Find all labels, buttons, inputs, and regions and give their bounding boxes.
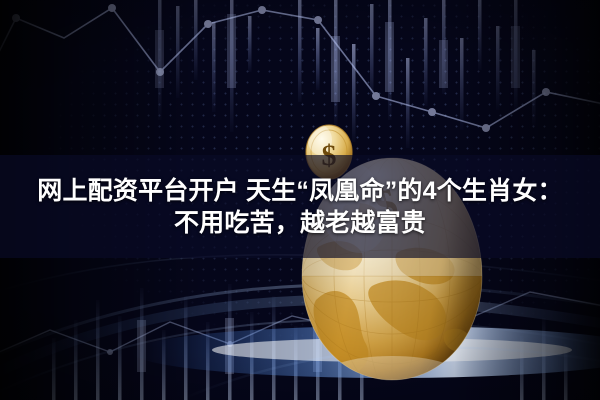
- headline-line-2: 不用吃苦，越老越富贵: [174, 208, 426, 238]
- headline-block: 网上配资平台开户 天生“凤凰命”的4个生肖女： 不用吃苦，越老越富贵: [0, 155, 600, 258]
- headline-line-1: 网上配资平台开户 天生“凤凰命”的4个生肖女：: [37, 176, 562, 206]
- thumbnail-canvas: $ $ 网上配资平台开户 天生“凤: [0, 0, 600, 400]
